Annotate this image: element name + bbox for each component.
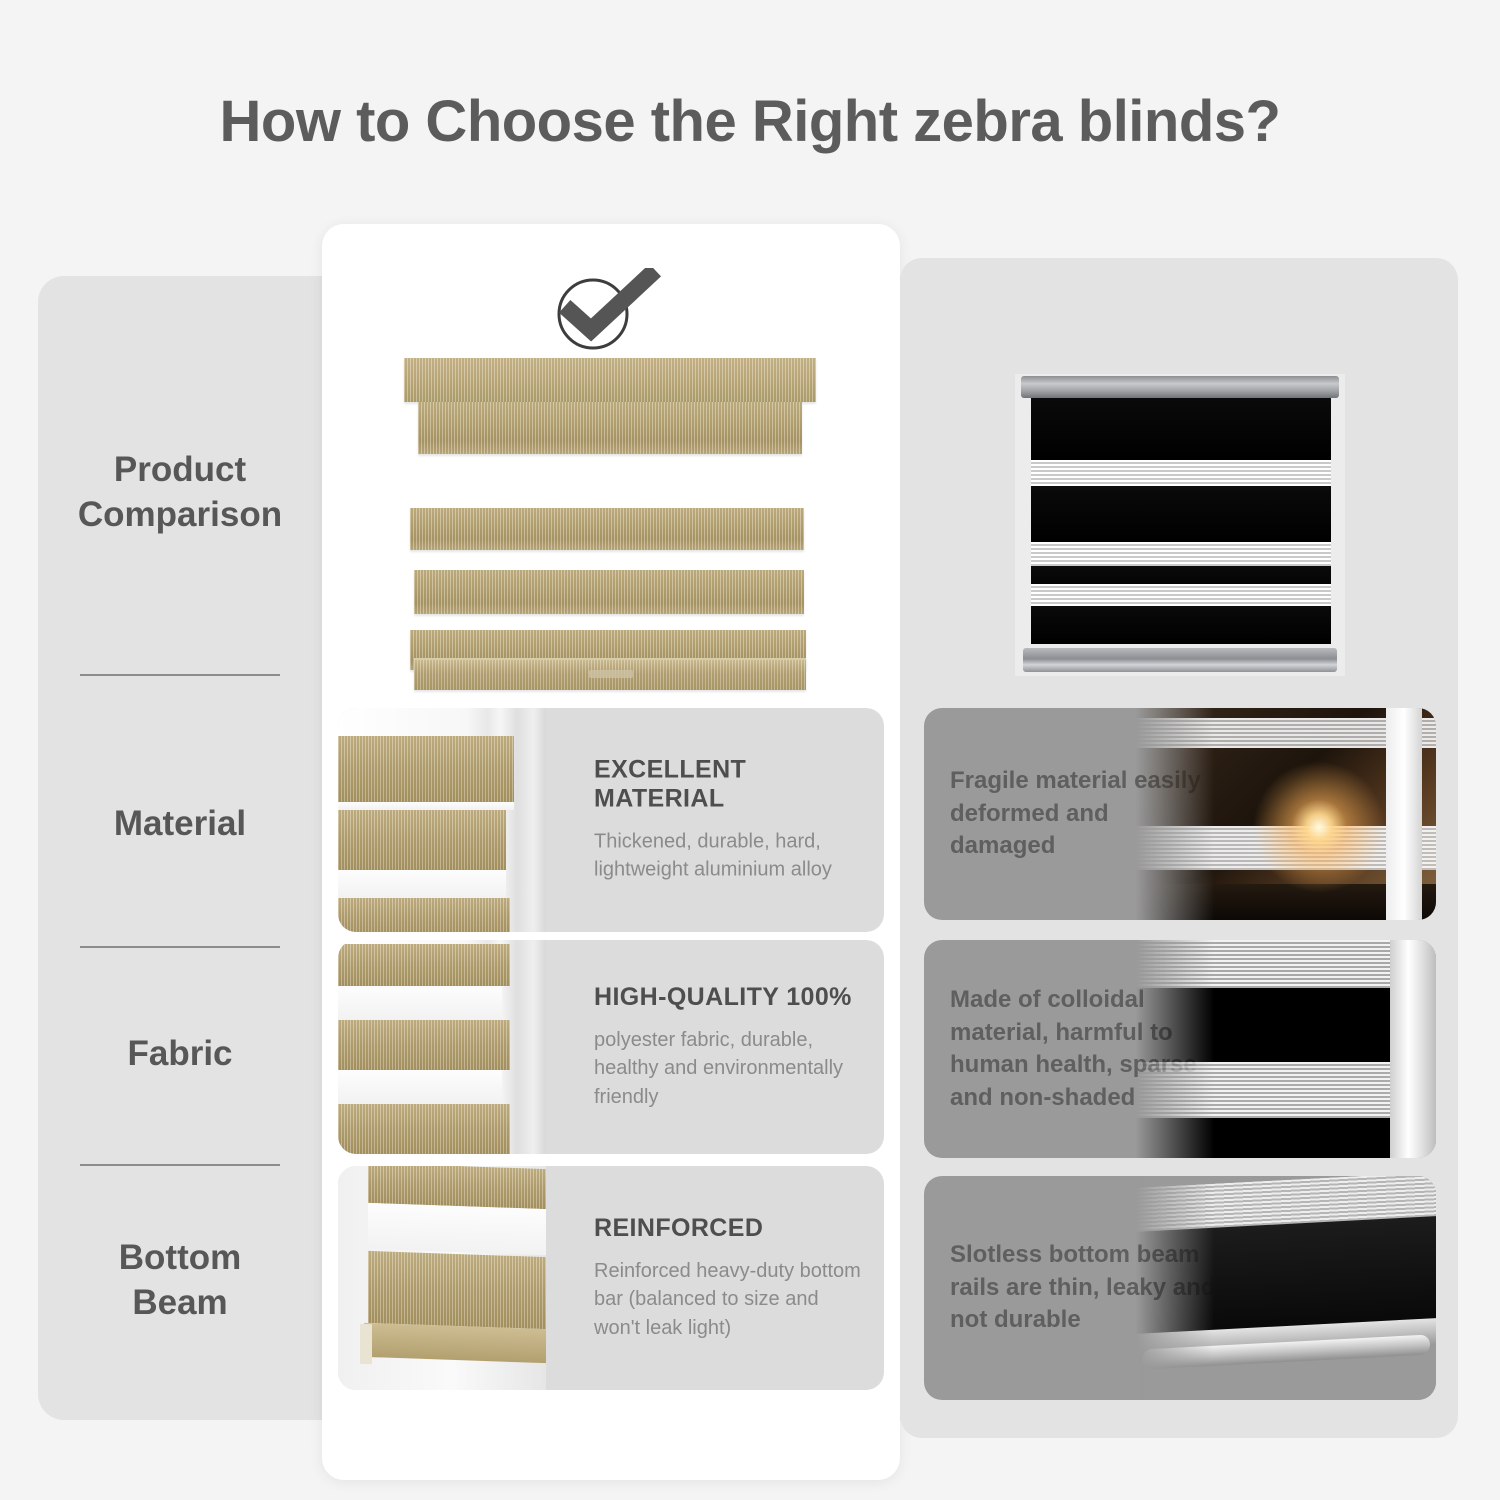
bad-feature-card-material: Fragile material easily deformed and dam… — [924, 708, 1436, 920]
blind-black-band — [1031, 486, 1331, 542]
good-feature-card-bottom-beam: REINFORCED Reinforced heavy-duty bottom … — [338, 1166, 884, 1390]
feature-body: Reinforced heavy-duty bottom bar (balanc… — [594, 1257, 864, 1342]
blind-bottom-rail-grip — [589, 670, 633, 678]
row-label-line1: Bottom — [38, 1236, 322, 1281]
row-label-fabric: Fabric — [38, 1032, 322, 1077]
row-divider-2 — [80, 946, 280, 948]
good-feature-card-fabric: HIGH-QUALITY 100% polyester fabric, dura… — [338, 940, 884, 1154]
blind-valance — [404, 358, 816, 402]
bad-feature-card-fabric: Made of colloidal material, harmful to h… — [924, 940, 1436, 1158]
good-feature-card-material: EXCELLENT MATERIAL Thickened, durable, h… — [338, 708, 884, 932]
good-feature-photo-material — [338, 708, 546, 932]
good-feature-photo-bottom-beam — [338, 1166, 546, 1390]
row-divider-3 — [80, 1164, 280, 1166]
blind-black-band — [1031, 398, 1331, 460]
row-label-line1: Material — [38, 802, 322, 847]
row-label-material: Material — [38, 802, 322, 847]
row-divider-1 — [80, 674, 280, 676]
blind-slat — [410, 508, 804, 550]
reinforced-bottom-bar — [364, 1323, 546, 1363]
feature-title: EXCELLENT MATERIAL — [594, 756, 864, 814]
feature-title: HIGH-QUALITY 100% — [594, 983, 864, 1012]
blind-sheer-band — [1031, 460, 1331, 486]
blind-headrail — [1021, 376, 1339, 398]
bad-feature-photo-fabric — [1136, 940, 1436, 1158]
bad-hero-product-image — [1015, 374, 1345, 676]
good-hero-product-image — [404, 358, 816, 696]
feature-body: Thickened, durable, hard, lightweight al… — [594, 828, 864, 885]
row-label-column: Product Comparison Material Fabric Botto… — [38, 276, 322, 1420]
feature-body: polyester fabric, durable, healthy and e… — [594, 1026, 864, 1111]
blind-bottom-rail — [1023, 648, 1337, 672]
blind-black-band — [1031, 606, 1331, 644]
blind-sheer-band — [1031, 584, 1331, 606]
bad-feature-card-bottom-beam: Slotless bottom beam rails are thin, lea… — [924, 1176, 1436, 1400]
row-label-line1: Fabric — [38, 1032, 322, 1077]
bad-feature-photo-bottom-beam — [1136, 1176, 1436, 1400]
bad-feature-photo-material — [1136, 708, 1436, 920]
row-label-product-comparison: Product Comparison — [38, 448, 322, 538]
blind-slat — [418, 402, 802, 454]
blind-sheer-band — [1031, 542, 1331, 566]
row-label-line1: Product — [38, 448, 322, 493]
check-circle-icon — [545, 268, 665, 359]
good-feature-photo-fabric — [338, 940, 546, 1154]
page-title: How to Choose the Right zebra blinds? — [0, 88, 1500, 155]
row-label-line2: Comparison — [38, 493, 322, 538]
row-label-line2: Beam — [38, 1281, 322, 1326]
blind-slat — [414, 570, 804, 614]
feature-title: REINFORCED — [594, 1214, 864, 1243]
row-label-bottom-beam: Bottom Beam — [38, 1236, 322, 1326]
